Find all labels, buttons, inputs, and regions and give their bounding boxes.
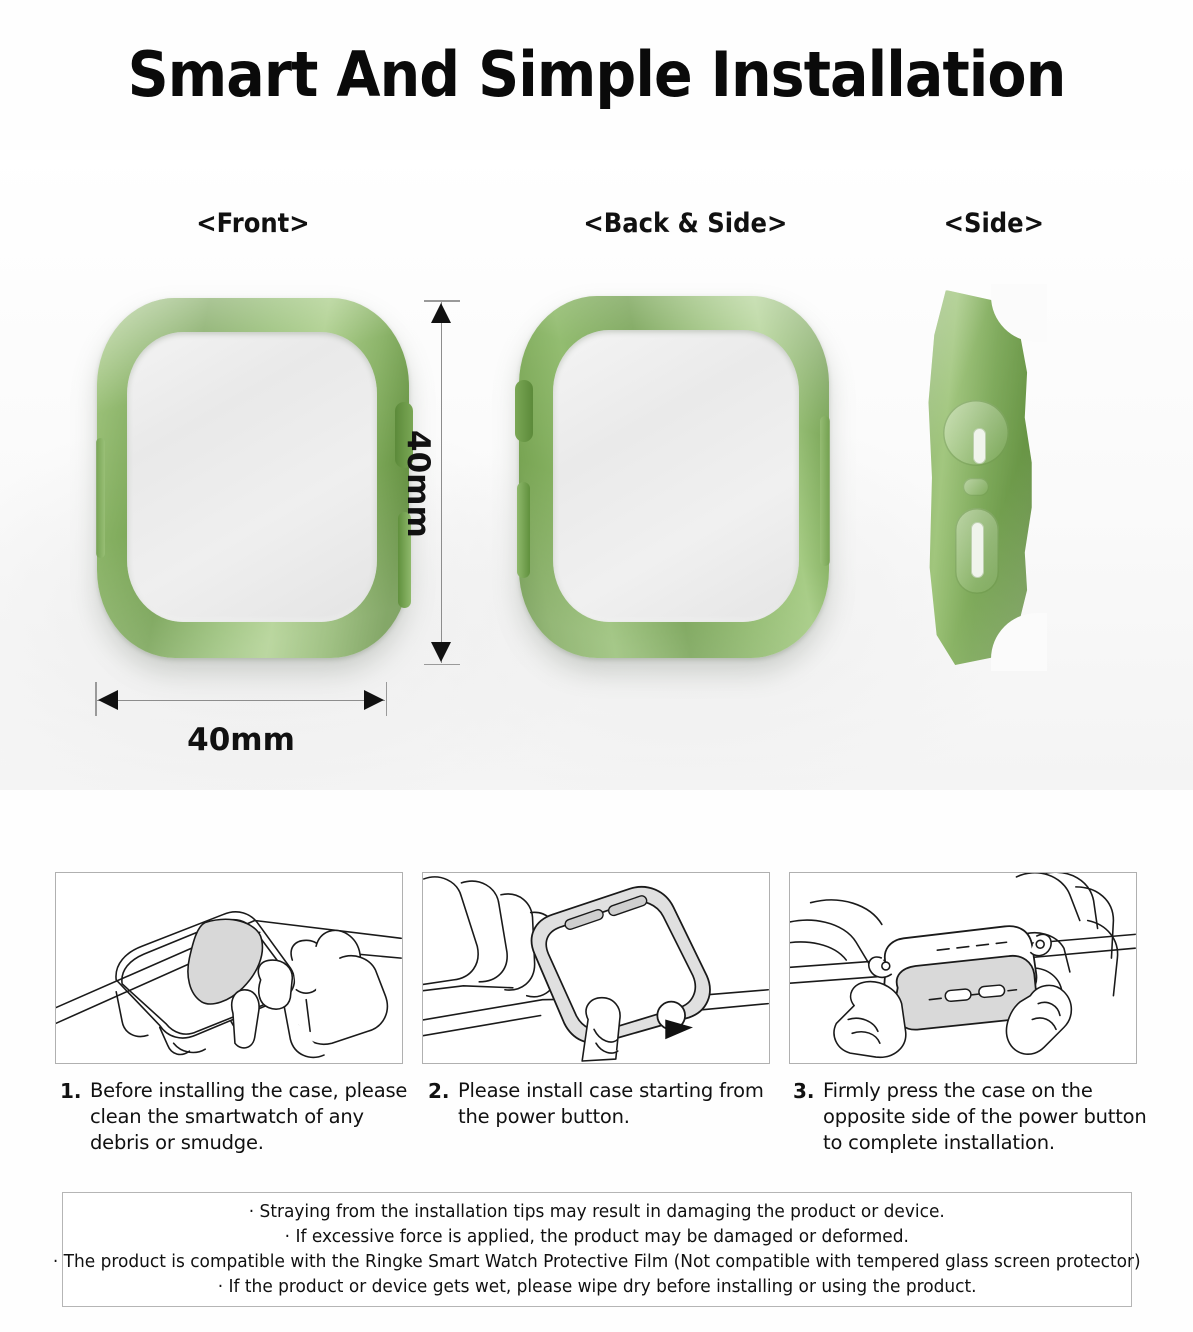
view-label-side: <Side>: [944, 208, 1044, 239]
install-case-illustration: [423, 873, 769, 1063]
case-back-right-edge: [820, 416, 830, 566]
wipe-watch-illustration: [56, 873, 402, 1063]
dimension-width-line: [97, 700, 385, 701]
dimension-height-line: [441, 302, 442, 663]
page-title: Smart And Simple Installation: [48, 38, 1146, 111]
step-item-1: 1. Before installing the case, please cl…: [60, 1078, 410, 1156]
arrow-up-icon: [431, 303, 451, 323]
case-side-button-slot: [971, 522, 984, 578]
illustration-panel-1: [55, 872, 403, 1064]
dimension-width-tick-right: [386, 682, 388, 716]
arrow-down-icon: [431, 642, 451, 662]
illustration-panel-2: [422, 872, 770, 1064]
step-item-2: 2. Please install case starting from the…: [428, 1078, 778, 1130]
step-text-1: Before installing the case, please clean…: [90, 1078, 410, 1156]
view-label-front: <Front>: [196, 208, 309, 239]
disclaimer-line-4: · If the product or device gets wet, ple…: [218, 1275, 977, 1300]
infographic-page: Smart And Simple Installation <Front> <B…: [0, 0, 1193, 1332]
case-side-profile: [925, 290, 1041, 665]
step-number-2: 2.: [428, 1078, 458, 1104]
case-back-button-cutout: [517, 482, 530, 578]
case-side-mid-vent: [963, 478, 989, 496]
arrow-right-icon: [364, 690, 384, 710]
disclaimer-line-2: · If excessive force is applied, the pro…: [285, 1225, 909, 1250]
step-item-3: 3. Firmly press the case on the opposite…: [793, 1078, 1153, 1156]
watch-case-front-view: [97, 298, 409, 658]
dimension-height-tick-bottom: [424, 664, 460, 666]
illustration-panel-3: [789, 872, 1137, 1064]
instruction-steps: 1. Before installing the case, please cl…: [0, 1078, 1193, 1188]
case-front-opening: [127, 332, 377, 622]
step-number-3: 3.: [793, 1078, 823, 1104]
instruction-illustrations: [0, 872, 1193, 1067]
dimension-height-tick-top: [424, 300, 460, 302]
case-back-opening: [553, 330, 799, 622]
dimension-width-label: 40mm: [95, 722, 387, 758]
step-text-3: Firmly press the case on the opposite si…: [823, 1078, 1153, 1156]
step-number-1: 1.: [60, 1078, 90, 1104]
press-case-illustration: [790, 873, 1136, 1063]
case-front-left-edge: [96, 438, 105, 558]
case-back-crown-cutout: [515, 380, 533, 442]
case-side-crown-slot: [973, 428, 986, 464]
watch-case-back-side-view: [519, 296, 829, 658]
product-showcase: <Front> <Back & Side> <Side>: [0, 150, 1193, 790]
disclaimer-box: · Straying from the installation tips ma…: [62, 1192, 1132, 1307]
step-text-2: Please install case starting from the po…: [458, 1078, 778, 1130]
dimension-height-label: 40mm: [400, 430, 436, 538]
dimension-width-arrow: [95, 680, 387, 720]
disclaimer-line-1: · Straying from the installation tips ma…: [249, 1200, 945, 1225]
view-label-back-side: <Back & Side>: [583, 208, 787, 239]
disclaimer-line-3: · The product is compatible with the Rin…: [53, 1250, 1141, 1275]
arrow-left-icon: [98, 690, 118, 710]
watch-case-side-view: [925, 290, 1041, 665]
